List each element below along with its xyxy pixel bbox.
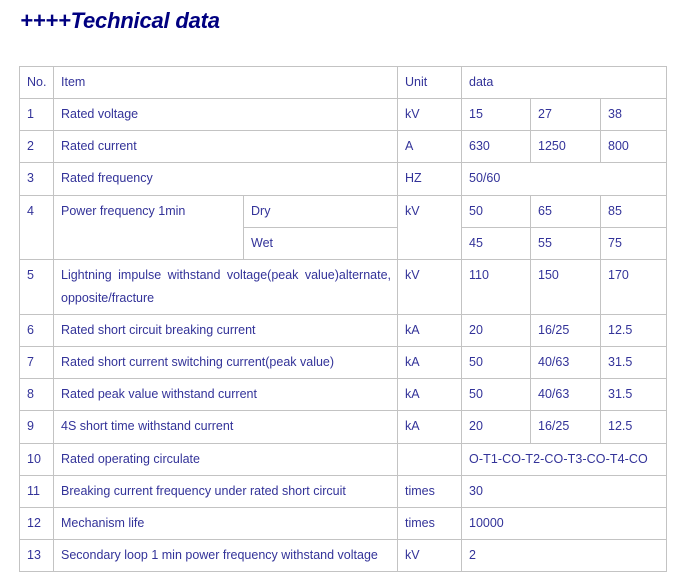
row-no: 13 [20, 539, 54, 571]
row-data-2: 40/63 [531, 347, 601, 379]
row-item: Rated short current switching current(pe… [54, 347, 398, 379]
table-row: 6 Rated short circuit breaking current k… [20, 315, 667, 347]
row-data-3: 75 [601, 227, 667, 259]
row-data-1: 15 [462, 99, 531, 131]
row-no: 10 [20, 443, 54, 475]
row-item: Breaking current frequency under rated s… [54, 475, 398, 507]
row-unit: times [398, 507, 462, 539]
row-subitem-wet: Wet [244, 227, 398, 259]
row-unit: HZ [398, 163, 462, 195]
row-unit: kV [398, 259, 462, 314]
row-data-1: 45 [462, 227, 531, 259]
row-unit [398, 443, 462, 475]
row-unit: A [398, 131, 462, 163]
table-row: 9 4S short time withstand current kA 20 … [20, 411, 667, 443]
row-data-1: 630 [462, 131, 531, 163]
row-data-1: O-T1-CO-T2-CO-T3-CO-T4-CO [462, 443, 667, 475]
table-row: 7 Rated short current switching current(… [20, 347, 667, 379]
table-row: 5 Lightning impulse withstand voltage(pe… [20, 259, 667, 314]
table-row: 11 Breaking current frequency under rate… [20, 475, 667, 507]
technical-data-page: ++++Technical data No. Item Unit data 1 … [0, 0, 684, 539]
row-data-3: 31.5 [601, 347, 667, 379]
header-data: data [462, 67, 667, 99]
row-data-3: 38 [601, 99, 667, 131]
row-no: 5 [20, 259, 54, 314]
row-data-1: 50 [462, 195, 531, 227]
row-item: Lightning impulse withstand voltage(peak… [54, 259, 398, 314]
row-data-2: 16/25 [531, 411, 601, 443]
row-data-2: 40/63 [531, 379, 601, 411]
table-row: 1 Rated voltage kV 15 27 38 [20, 99, 667, 131]
table-row: 3 Rated frequency HZ 50/60 [20, 163, 667, 195]
table-row: 8 Rated peak value withstand current kA … [20, 379, 667, 411]
row-data-2: 150 [531, 259, 601, 314]
row-data-2: 16/25 [531, 315, 601, 347]
row-data-2: 65 [531, 195, 601, 227]
row-unit: kA [398, 347, 462, 379]
table-row: 10 Rated operating circulate O-T1-CO-T2-… [20, 443, 667, 475]
table-row: 2 Rated current A 630 1250 800 [20, 131, 667, 163]
row-data-2: 1250 [531, 131, 601, 163]
row-data-2: 55 [531, 227, 601, 259]
row-item: Mechanism life [54, 507, 398, 539]
row-subitem-dry: Dry [244, 195, 398, 227]
row-unit: times [398, 475, 462, 507]
table-row: 12 Mechanism life times 10000 [20, 507, 667, 539]
row-data-1: 50 [462, 379, 531, 411]
row-data-3: 12.5 [601, 315, 667, 347]
row-item: Rated short circuit breaking current [54, 315, 398, 347]
row-data-3: 12.5 [601, 411, 667, 443]
row-no: 7 [20, 347, 54, 379]
row-no: 1 [20, 99, 54, 131]
table-row: 4 Power frequency 1min Dry kV 50 65 85 [20, 195, 667, 227]
row-data-1: 20 [462, 411, 531, 443]
row-no: 9 [20, 411, 54, 443]
row-no: 12 [20, 507, 54, 539]
row-item: Rated voltage [54, 99, 398, 131]
page-title: ++++Technical data [20, 8, 220, 34]
row-unit: kV [398, 99, 462, 131]
row-no: 11 [20, 475, 54, 507]
row-data-1: 2 [462, 539, 667, 571]
row-no: 6 [20, 315, 54, 347]
row-data-3: 31.5 [601, 379, 667, 411]
row-data-3: 170 [601, 259, 667, 314]
header-unit: Unit [398, 67, 462, 99]
row-unit: kV [398, 195, 462, 259]
row-data-1: 110 [462, 259, 531, 314]
row-no: 3 [20, 163, 54, 195]
row-data-1: 20 [462, 315, 531, 347]
row-item: 4S short time withstand current [54, 411, 398, 443]
row-data-1: 50 [462, 347, 531, 379]
header-no: No. [20, 67, 54, 99]
row-item: Rated peak value withstand current [54, 379, 398, 411]
row-item: Power frequency 1min [54, 195, 244, 259]
header-item: Item [54, 67, 398, 99]
row-data-3: 85 [601, 195, 667, 227]
row-item: Rated operating circulate [54, 443, 398, 475]
row-no: 8 [20, 379, 54, 411]
row-data-3: 800 [601, 131, 667, 163]
row-unit: kA [398, 411, 462, 443]
row-item: Secondary loop 1 min power frequency wit… [54, 539, 398, 571]
row-unit: kA [398, 379, 462, 411]
row-item: Rated frequency [54, 163, 398, 195]
row-unit: kA [398, 315, 462, 347]
row-no: 2 [20, 131, 54, 163]
row-data-1: 30 [462, 475, 667, 507]
technical-data-table: No. Item Unit data 1 Rated voltage kV 15… [19, 66, 667, 572]
table-header-row: No. Item Unit data [20, 67, 667, 99]
row-item: Rated current [54, 131, 398, 163]
row-data-1: 10000 [462, 507, 667, 539]
table-row: 13 Secondary loop 1 min power frequency … [20, 539, 667, 571]
technical-data-table-wrapper: No. Item Unit data 1 Rated voltage kV 15… [19, 66, 666, 572]
row-data-2: 27 [531, 99, 601, 131]
row-no: 4 [20, 195, 54, 259]
row-unit: kV [398, 539, 462, 571]
row-data-1: 50/60 [462, 163, 667, 195]
